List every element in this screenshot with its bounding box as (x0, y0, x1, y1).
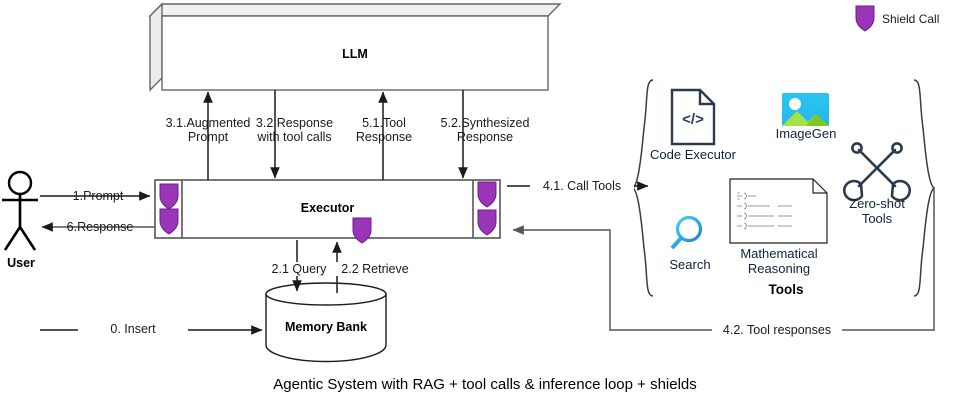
edge-label-1-prompt: 1.Prompt (55, 189, 141, 203)
llm-label: LLM (162, 47, 548, 61)
tool-label-math-reasoning: Mathematical Reasoning (723, 246, 835, 276)
svg-text:</>: </> (682, 111, 704, 128)
legend-shield-icon (856, 6, 874, 31)
user-actor (2, 172, 38, 250)
edge-label-6-response: 6.Response (52, 220, 148, 234)
math-document-icon (730, 179, 827, 243)
tools-group-label: Tools (726, 282, 846, 297)
tool-label-zero-shot: Zero-shot Tools (840, 196, 914, 226)
connector-layer: </> (0, 0, 970, 411)
diagram-canvas: </> (0, 0, 970, 411)
user-label: User (0, 256, 42, 270)
edge-label-52: 5.2.Synthesized Response (420, 116, 550, 144)
diagram-caption: Agentic System with RAG + tool calls & i… (0, 376, 970, 393)
crossed-wrenches-icon (844, 143, 909, 200)
code-document-icon: </> (672, 90, 714, 144)
legend-label: Shield Call (882, 12, 939, 26)
edge-label-41: 4.1. Call Tools (530, 179, 634, 193)
memory-bank-label: Memory Bank (266, 320, 386, 334)
tool-label-imagegen: ImageGen (768, 126, 844, 141)
executor-label: Executor (182, 201, 473, 215)
edge-label-42: 4.2. Tool responses (712, 323, 842, 337)
shield-icon-bottom-center (353, 218, 371, 243)
tool-label-code-executor: Code Executor (643, 147, 743, 162)
edge-label-51: 5.1.Tool Response (334, 116, 434, 144)
edge-label-0-insert: 0. Insert (78, 322, 188, 336)
image-picture-icon (782, 93, 829, 126)
tool-label-search: Search (657, 257, 723, 272)
magnifier-icon (672, 218, 701, 249)
edge-label-22: 2.2 Retrieve (330, 262, 420, 276)
